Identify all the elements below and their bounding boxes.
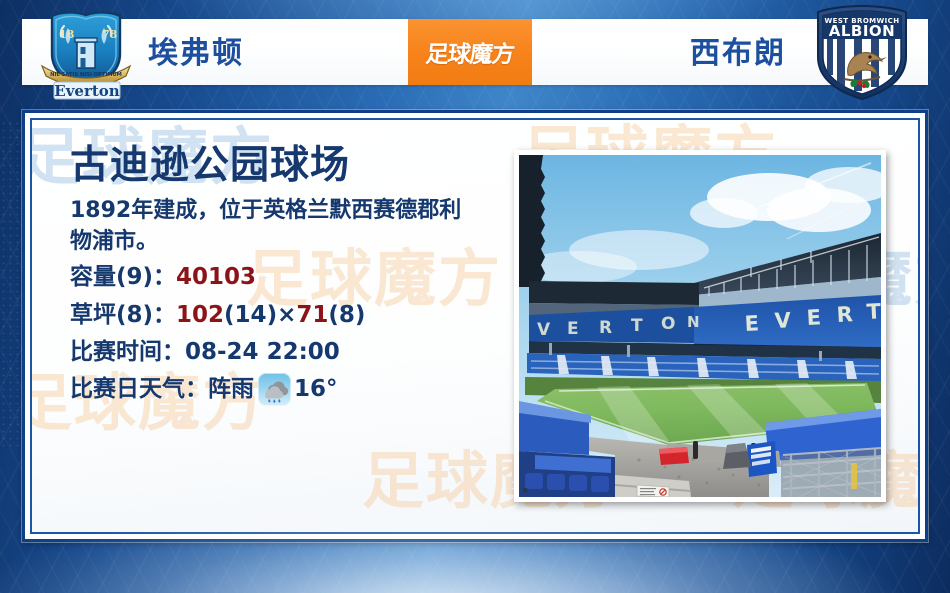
svg-text:E: E: [806, 305, 822, 330]
pitch-label: 草坪(8)：: [70, 297, 176, 334]
away-team-name: 西布朗: [690, 28, 786, 72]
svg-text:B: B: [523, 487, 528, 495]
weather-temperature: 16°: [294, 371, 338, 408]
stadium-description: 1892年建成，位于英格兰默西赛德郡利物浦市。: [70, 195, 470, 257]
stadium-photo-image: E V E R T V E R T O: [519, 155, 881, 497]
west-bromwich-albion-crest: WEST BROMWICH ALBION: [810, 3, 914, 101]
pitch-length: 102: [176, 297, 224, 334]
pitch-width-note: (8): [328, 297, 365, 334]
svg-text:N: N: [687, 313, 700, 331]
brand-badge[interactable]: 足球魔方: [408, 19, 532, 85]
match-header: 18 78 NIL SATIS NISI OPTIMUM Everton 埃弗顿…: [0, 0, 950, 104]
svg-text:R: R: [836, 302, 853, 327]
match-stadium-card: 18 78 NIL SATIS NISI OPTIMUM Everton 埃弗顿…: [0, 0, 950, 593]
match-time-value: 08-24 22:00: [185, 334, 340, 371]
info-panel-inner: 足球魔方 足球魔方 足球魔方 足球魔方 足球魔方 足球魔方 足球魔方 古迪逊公园…: [30, 118, 920, 534]
svg-text:E: E: [744, 311, 760, 336]
weather-condition: 阵雨: [208, 371, 254, 408]
info-panel: 足球魔方 足球魔方 足球魔方 足球魔方 足球魔方 足球魔方 足球魔方 古迪逊公园…: [22, 110, 928, 542]
weather-label: 比赛日天气：: [70, 371, 208, 408]
capacity-label: 容量(9)：: [70, 259, 176, 296]
brand-label: 足球魔方: [424, 35, 516, 69]
svg-text:R: R: [599, 318, 612, 338]
home-team-name: 埃弗顿: [148, 28, 244, 72]
svg-text:ALBION: ALBION: [829, 22, 896, 40]
svg-text:T: T: [631, 316, 643, 336]
svg-text:T: T: [866, 299, 881, 324]
capacity-value: 40103: [176, 259, 256, 296]
svg-text:V: V: [774, 308, 792, 333]
svg-text:V: V: [537, 320, 551, 340]
pitch-row: 草坪(8)：102(14)×71(8): [70, 297, 490, 334]
everton-crest: 18 78 NIL SATIS NISI OPTIMUM Everton: [34, 4, 138, 100]
svg-text:18: 18: [59, 28, 75, 41]
pitch-times-sign: ×: [277, 297, 296, 334]
weather-row: 比赛日天气：阵雨16°: [70, 371, 490, 408]
stadium-info-block: 古迪逊公园球场 1892年建成，位于英格兰默西赛德郡利物浦市。 容量(9)：40…: [70, 146, 490, 408]
svg-text:Everton: Everton: [54, 82, 120, 100]
svg-text:NIL SATIS NISI OPTIMUM: NIL SATIS NISI OPTIMUM: [50, 72, 122, 78]
stadium-name: 古迪逊公园球场: [70, 146, 490, 187]
match-time-label: 比赛时间：: [70, 334, 185, 371]
goodison-park-stadium-photo[interactable]: E V E R T V E R T O: [514, 150, 886, 502]
pitch-width: 71: [296, 297, 328, 334]
capacity-row: 容量(9)：40103: [70, 259, 490, 296]
shower-rain-icon: [258, 373, 291, 406]
svg-text:78: 78: [102, 28, 118, 41]
pitch-length-note: (14): [224, 297, 277, 334]
match-time-row: 比赛时间：08-24 22:00: [70, 334, 490, 371]
svg-text:E: E: [567, 319, 579, 339]
svg-text:O: O: [661, 314, 675, 334]
